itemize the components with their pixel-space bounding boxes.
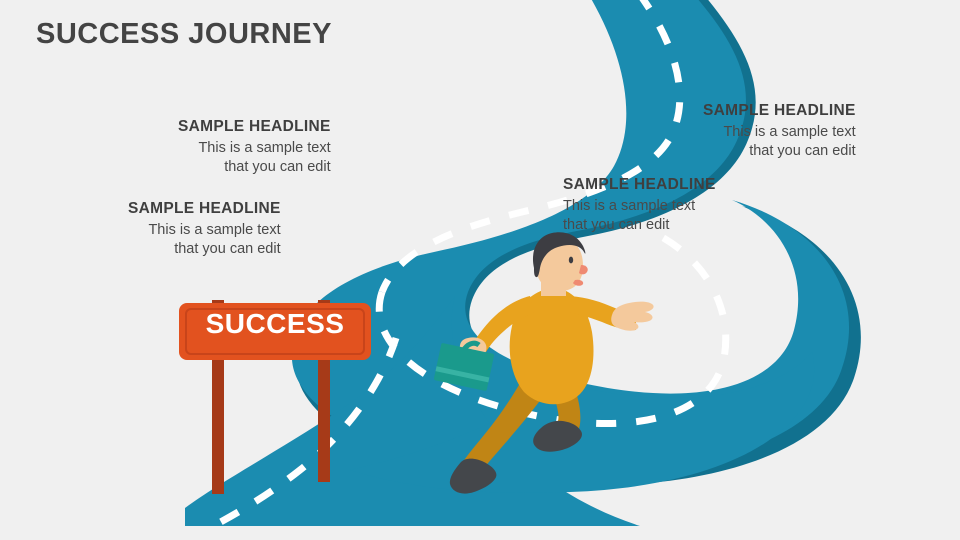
text-block-4-line2: that you can edit (703, 142, 856, 161)
text-block-2-headline: SAMPLE HEADLINE (128, 200, 281, 218)
text-block-2-line2: that you can edit (128, 240, 281, 259)
text-block-2-line1: This is a sample text (128, 221, 281, 240)
sign-board (179, 303, 371, 360)
text-block-1-line2: that you can edit (178, 158, 331, 177)
text-block-4-headline: SAMPLE HEADLINE (703, 102, 856, 120)
text-block-3-headline: SAMPLE HEADLINE (563, 176, 716, 194)
businessman-eye (569, 257, 573, 264)
slide-canvas: SUCCESS JOURNEY SUCCESS SAMPLE HEADLINE … (0, 0, 960, 540)
text-block-4: SAMPLE HEADLINE This is a sample text th… (703, 102, 856, 161)
text-block-1-headline: SAMPLE HEADLINE (178, 118, 331, 136)
text-block-1: SAMPLE HEADLINE This is a sample text th… (178, 118, 331, 177)
text-block-3-line2: that you can edit (563, 216, 716, 235)
text-block-1-line1: This is a sample text (178, 139, 331, 158)
slide-artwork (0, 0, 960, 540)
businessman-front-hand (611, 302, 653, 331)
text-block-4-line1: This is a sample text (703, 123, 856, 142)
text-block-2: SAMPLE HEADLINE This is a sample text th… (128, 200, 281, 259)
winding-road (185, 0, 861, 528)
page-title: SUCCESS JOURNEY (36, 18, 332, 51)
text-block-3-line1: This is a sample text (563, 197, 716, 216)
text-block-3: SAMPLE HEADLINE This is a sample text th… (563, 176, 716, 235)
